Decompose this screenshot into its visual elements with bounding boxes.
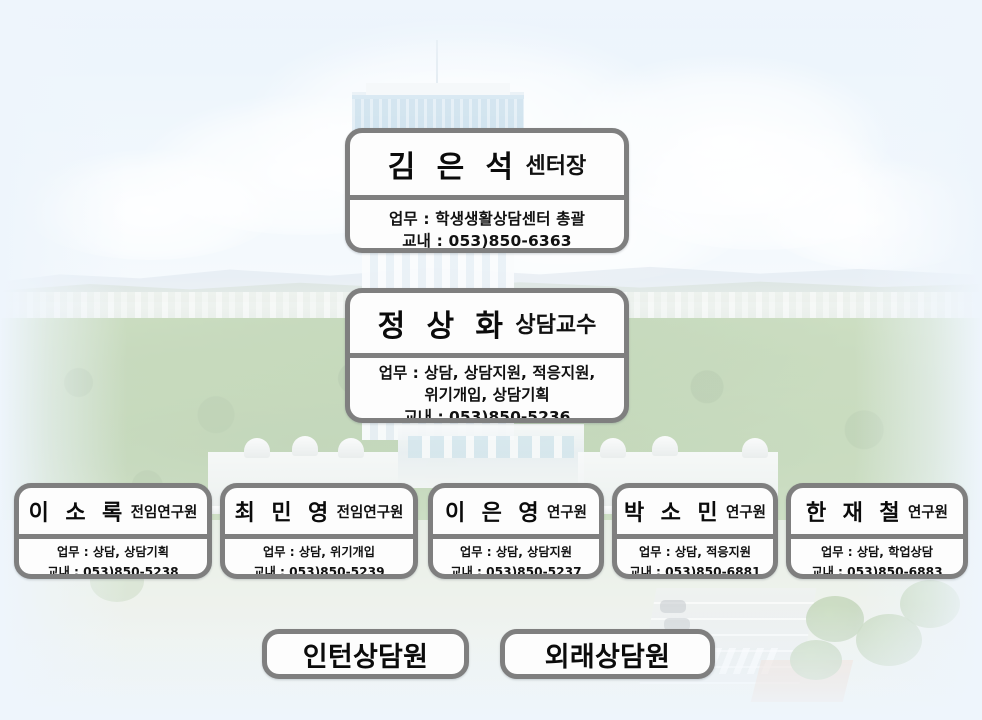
staff-details: 업무 : 상담, 학업상담 교내 : 053)850-6883 xyxy=(791,539,963,579)
professor-header: 정 상 화 상담교수 xyxy=(350,293,624,353)
professor-duty-line-1: 업무 : 상담, 상담지원, 적응지원, xyxy=(350,362,624,384)
org-node-staff[interactable]: 이 소 록 전임연구원 업무 : 상담, 상담기획 교내 : 053)850-5… xyxy=(14,483,212,579)
director-name: 김 은 석 xyxy=(388,142,519,186)
staff-title: 전임연구원 xyxy=(337,501,404,522)
professor-phone: 교내 : 053)850-5236 xyxy=(350,406,624,423)
org-node-director[interactable]: 김 은 석 센터장 업무 : 학생생활상담센터 총괄 교내 : 053)850-… xyxy=(345,128,629,253)
tree xyxy=(790,640,842,680)
org-node-staff[interactable]: 최 민 영 전임연구원 업무 : 상담, 위기개입 교내 : 053)850-5… xyxy=(220,483,418,579)
org-node-professor[interactable]: 정 상 화 상담교수 업무 : 상담, 상담지원, 적응지원, 위기개입, 상담… xyxy=(345,288,629,423)
director-details: 업무 : 학생생활상담센터 총괄 교내 : 053)850-6363 xyxy=(350,200,624,253)
roof-vent xyxy=(652,436,678,456)
roof-vent xyxy=(244,438,270,458)
org-node-staff[interactable]: 박 소 민 연구원 업무 : 상담, 적응지원 교내 : 053)850-688… xyxy=(612,483,778,579)
staff-details: 업무 : 상담, 상담기획 교내 : 053)850-5238 xyxy=(19,539,207,579)
staff-name: 이 소 록 xyxy=(29,495,127,527)
staff-title: 연구원 xyxy=(547,501,587,522)
staff-title: 전임연구원 xyxy=(131,501,198,522)
professor-name: 정 상 화 xyxy=(378,301,509,345)
staff-phone: 교내 : 053)850-5237 xyxy=(433,563,599,579)
staff-phone: 교내 : 053)850-5238 xyxy=(19,563,207,579)
staff-duty: 업무 : 상담, 상담기획 xyxy=(19,543,207,563)
staff-name: 박 소 민 xyxy=(624,495,722,527)
staff-phone: 교내 : 053)850-5239 xyxy=(225,563,413,579)
director-phone: 교내 : 053)850-6363 xyxy=(350,230,624,252)
staff-header: 이 은 영 연구원 xyxy=(433,488,599,534)
staff-name: 한 재 철 xyxy=(806,495,904,527)
staff-details: 업무 : 상담, 위기개입 교내 : 053)850-5239 xyxy=(225,539,413,579)
staff-duty: 업무 : 상담, 상담지원 xyxy=(433,543,599,563)
external-counselor-label: 외래상담원 xyxy=(545,635,671,674)
staff-header: 한 재 철 연구원 xyxy=(791,488,963,534)
staff-details: 업무 : 상담, 적응지원 교내 : 053)850-6881 xyxy=(617,539,773,579)
campus-building-back xyxy=(398,424,584,488)
staff-header: 최 민 영 전임연구원 xyxy=(225,488,413,534)
cloud xyxy=(20,150,280,260)
roof-vent xyxy=(292,436,318,456)
roof-vent xyxy=(338,438,364,458)
staff-name: 최 민 영 xyxy=(235,495,333,527)
org-node-staff[interactable]: 이 은 영 연구원 업무 : 상담, 상담지원 교내 : 053)850-523… xyxy=(428,483,604,579)
professor-details: 업무 : 상담, 상담지원, 적응지원, 위기개입, 상담기획 교내 : 053… xyxy=(350,358,624,423)
staff-header: 박 소 민 연구원 xyxy=(617,488,773,534)
org-node-external-counselor[interactable]: 외래상담원 xyxy=(500,629,715,679)
staff-phone: 교내 : 053)850-6881 xyxy=(617,563,773,579)
org-node-staff[interactable]: 한 재 철 연구원 업무 : 상담, 학업상담 교내 : 053)850-688… xyxy=(786,483,968,579)
staff-title: 연구원 xyxy=(726,501,766,522)
director-title: 센터장 xyxy=(525,148,586,180)
staff-header: 이 소 록 전임연구원 xyxy=(19,488,207,534)
tree xyxy=(806,596,864,642)
staff-duty: 업무 : 상담, 적응지원 xyxy=(617,543,773,563)
org-node-intern-counselor[interactable]: 인턴상담원 xyxy=(262,629,469,679)
professor-title: 상담교수 xyxy=(515,307,596,339)
staff-title: 연구원 xyxy=(908,501,948,522)
director-duty: 업무 : 학생생활상담센터 총괄 xyxy=(350,208,624,230)
staff-name: 이 은 영 xyxy=(445,495,543,527)
org-chart-root: 김 은 석 센터장 업무 : 학생생활상담센터 총괄 교내 : 053)850-… xyxy=(0,0,982,720)
director-header: 김 은 석 센터장 xyxy=(350,133,624,195)
intern-counselor-label: 인턴상담원 xyxy=(303,635,429,674)
tree xyxy=(900,580,960,628)
professor-duty-line-2: 위기개입, 상담기획 xyxy=(350,384,624,406)
staff-details: 업무 : 상담, 상담지원 교내 : 053)850-5237 xyxy=(433,539,599,579)
roof-vent xyxy=(742,438,768,458)
staff-duty: 업무 : 상담, 학업상담 xyxy=(791,543,963,563)
staff-duty: 업무 : 상담, 위기개입 xyxy=(225,543,413,563)
roof-vent xyxy=(600,438,626,458)
parked-car xyxy=(660,600,686,613)
staff-phone: 교내 : 053)850-6883 xyxy=(791,563,963,579)
